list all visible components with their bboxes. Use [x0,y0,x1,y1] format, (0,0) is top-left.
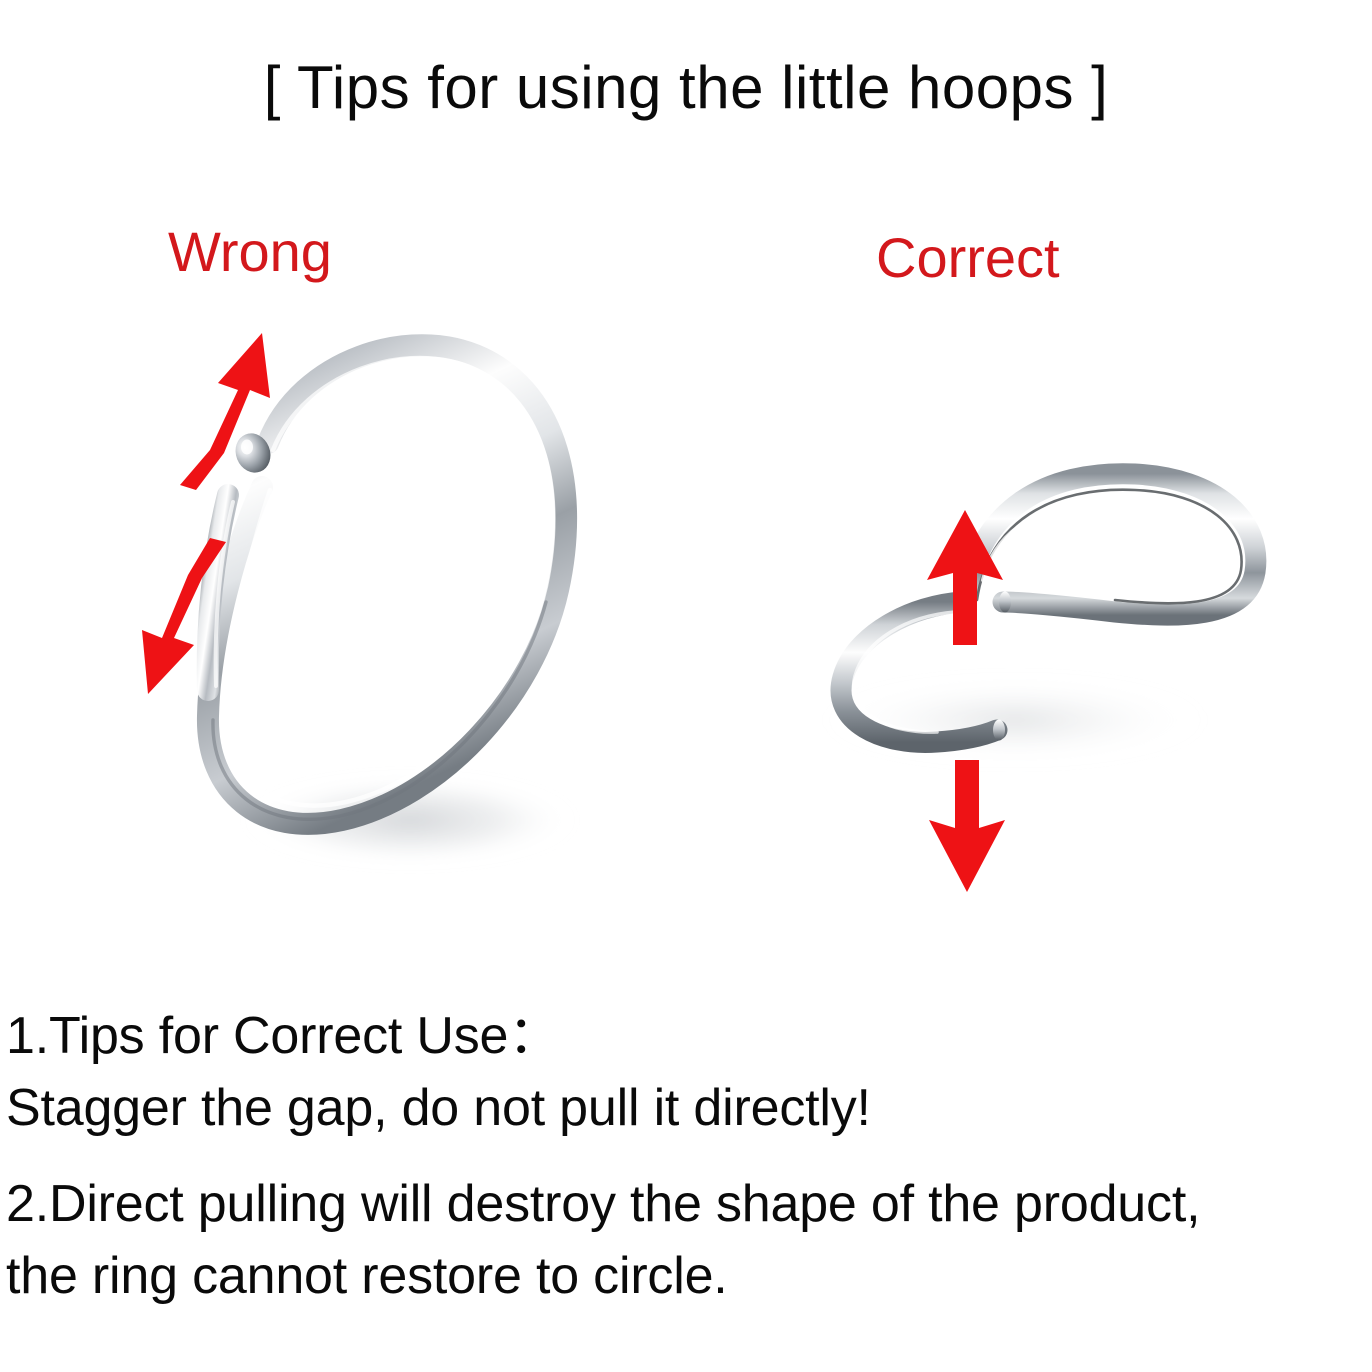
illustration-wrong-hoop [110,290,580,890]
tip-1-heading: 1.Tips for Correct Use： [6,1000,560,1072]
hoop-ring-wrong [208,345,566,824]
page-title: [ Tips for using the little hoops ] [0,52,1372,124]
tip-2-line-1: 2.Direct pulling will destroy the shape … [6,1168,1200,1240]
arrow-down-icon [929,760,1005,892]
panel-label-wrong: Wrong [168,222,332,282]
panel-label-correct: Correct [876,228,1060,288]
ring-shadow [825,678,1205,762]
tip-2-line-2: the ring cannot restore to circle. [6,1240,728,1312]
illustration-correct-hoop [715,430,1295,860]
tip-1-body: Stagger the gap, do not pull it directly… [6,1072,871,1144]
hoop-upper-end-cap [999,592,1011,613]
hoop-lower-end-cap [993,720,1005,741]
